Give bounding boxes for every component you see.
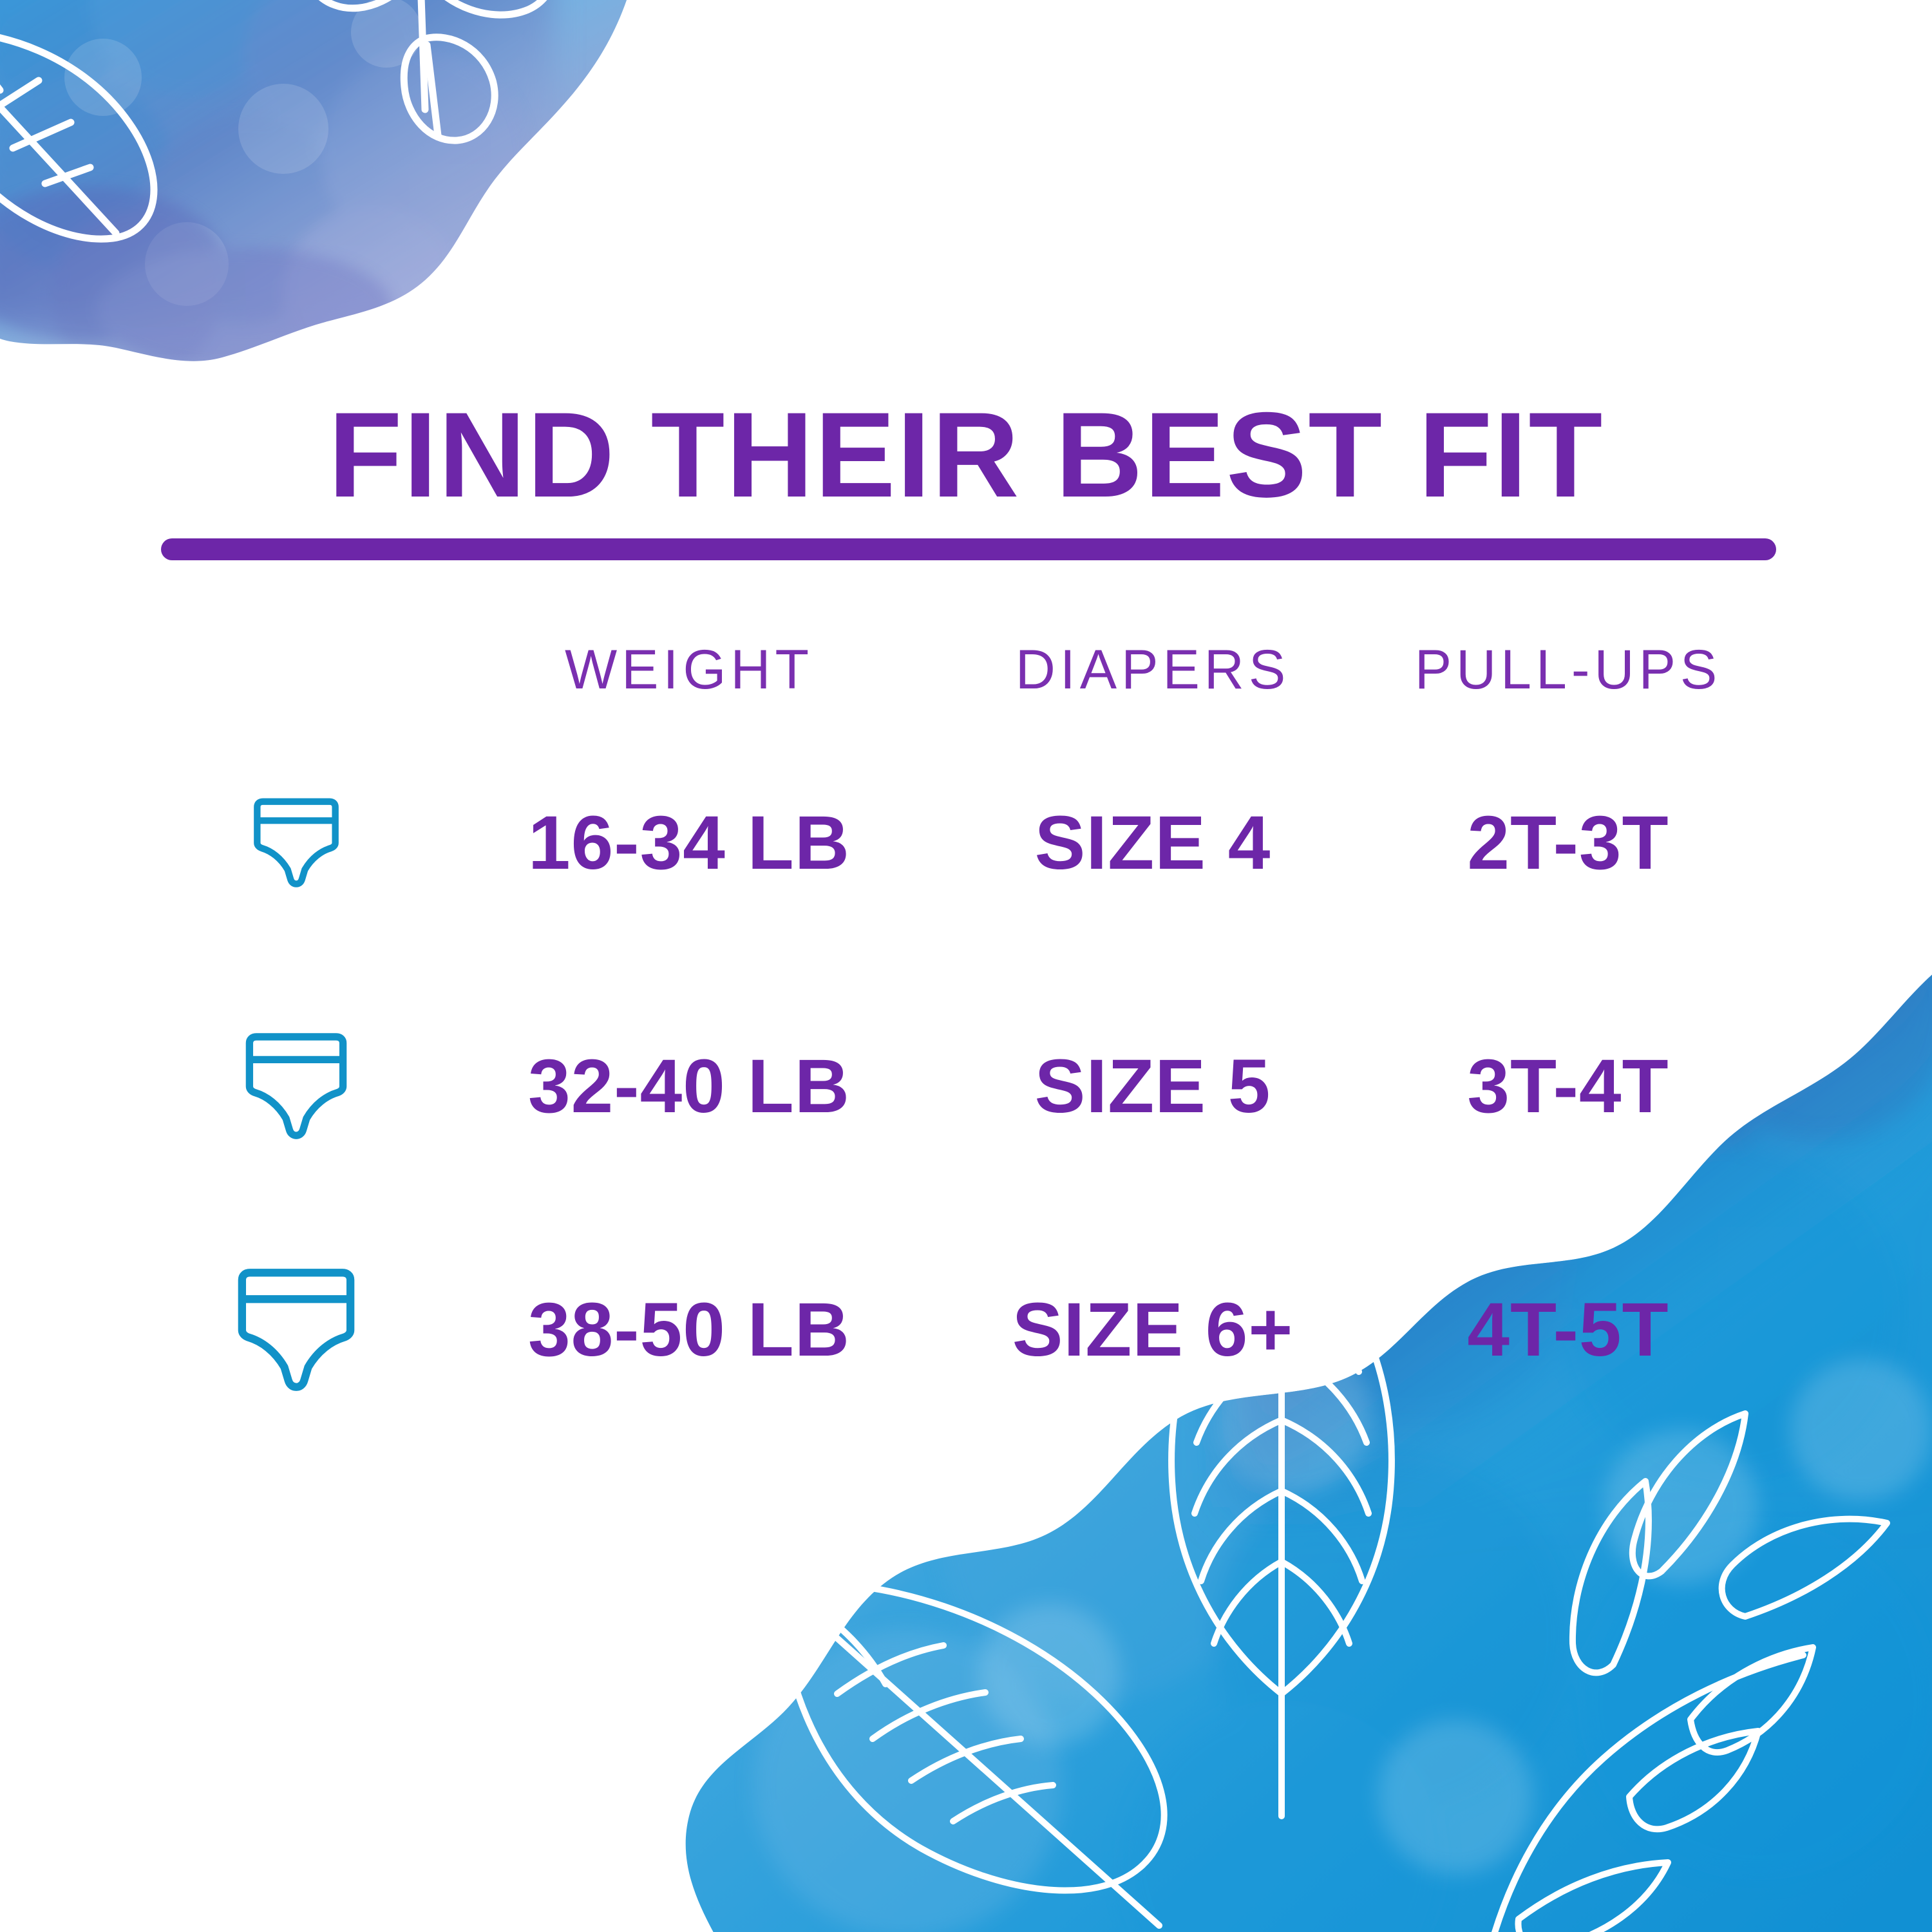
title-divider	[161, 538, 1776, 560]
cell-diapers: SIZE 5	[947, 1043, 1359, 1130]
page-title: FIND THEIR BEST FIT	[0, 394, 1932, 515]
column-header-pullups: PULL-UPS	[1415, 639, 1722, 701]
value-pullups: 4T-5T	[1467, 1287, 1669, 1372]
value-diapers: SIZE 6+	[1012, 1287, 1294, 1372]
cell-pullups: 3T-4T	[1359, 1043, 1777, 1130]
table-row: 16-34 LB SIZE 4 2T-3T	[161, 721, 1777, 965]
cell-weight: 38-50 LB	[431, 1286, 947, 1374]
value-diapers: SIZE 4	[1035, 800, 1271, 885]
title-block: FIND THEIR BEST FIT	[0, 394, 1932, 515]
value-weight: 32-40 LB	[528, 1044, 850, 1129]
cell-pullups: 4T-5T	[1359, 1286, 1777, 1374]
column-header-diapers: DIAPERS	[1016, 639, 1291, 701]
value-diapers: SIZE 5	[1035, 1044, 1271, 1129]
cell-diapers: SIZE 6+	[947, 1286, 1359, 1374]
row-icon-cell	[161, 1267, 431, 1394]
table-row: 38-50 LB SIZE 6+ 4T-5T	[161, 1208, 1777, 1452]
value-weight: 16-34 LB	[528, 800, 850, 885]
header-cell-weight: WEIGHT	[431, 638, 947, 702]
underwear-icon	[230, 1267, 363, 1394]
value-pullups: 2T-3T	[1467, 800, 1669, 885]
size-chart-table: WEIGHT DIAPERS PULL-UPS	[161, 618, 1777, 1452]
header-cell-diapers: DIAPERS	[947, 638, 1359, 702]
value-weight: 38-50 LB	[528, 1287, 850, 1372]
watercolor-splash-top-left	[0, 0, 734, 399]
table-row: 32-40 LB SIZE 5 3T-4T	[161, 965, 1777, 1208]
cell-pullups: 2T-3T	[1359, 799, 1777, 887]
value-pullups: 3T-4T	[1467, 1044, 1669, 1129]
row-icon-cell	[161, 1032, 431, 1141]
column-header-weight: WEIGHT	[565, 639, 813, 701]
row-icon-cell	[161, 797, 431, 889]
underwear-icon	[239, 1032, 354, 1141]
cell-weight: 32-40 LB	[431, 1043, 947, 1130]
cell-weight: 16-34 LB	[431, 799, 947, 887]
table-header-row: WEIGHT DIAPERS PULL-UPS	[161, 618, 1777, 721]
header-cell-pullups: PULL-UPS	[1359, 638, 1777, 702]
underwear-icon	[249, 797, 344, 889]
cell-diapers: SIZE 4	[947, 799, 1359, 887]
size-chart-poster: FIND THEIR BEST FIT WEIGHT DIAPERS PULL-…	[0, 0, 1932, 1932]
